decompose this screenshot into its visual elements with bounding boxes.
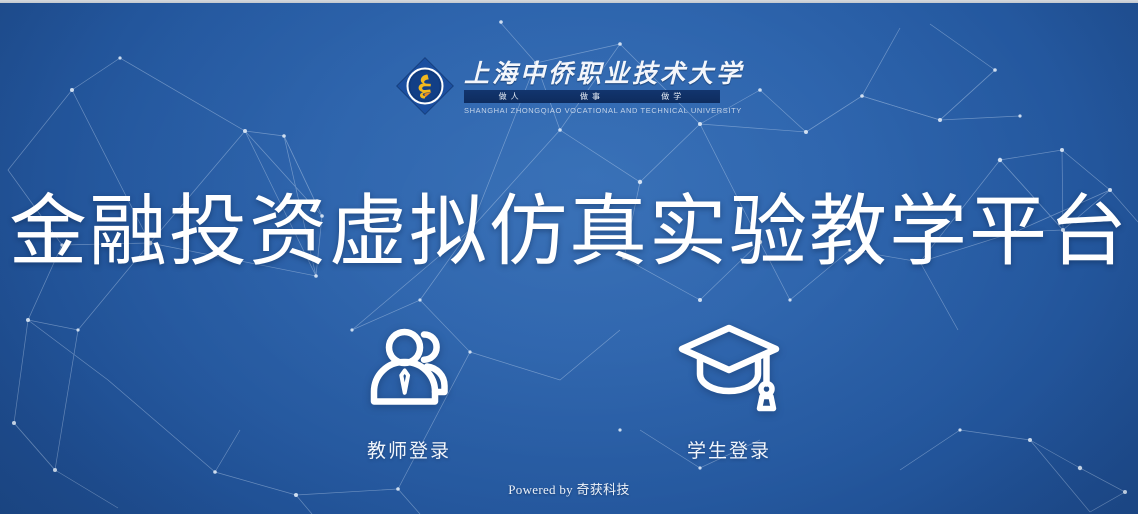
top-edge-strip	[0, 0, 1138, 3]
motto-word-1: 做人	[499, 91, 523, 102]
users-group-icon	[357, 318, 461, 418]
graduation-cap-icon	[676, 318, 782, 418]
page-title: 金融投资虚拟仿真实验教学平台	[0, 190, 1138, 274]
university-motto: 做人 做事 做学	[464, 90, 720, 103]
university-name-cn: 上海中侨职业技术大学	[464, 59, 744, 88]
student-login-label: 学生登录	[687, 436, 771, 463]
login-options: 教师登录 学生登录	[0, 318, 1138, 463]
login-landing-page: 上海中侨职业技术大学 做人 做事 做学 SHANGHAI ZHONGQIAO V…	[0, 0, 1138, 514]
university-name-en: SHANGHAI ZHONGQIAO VOCATIONAL AND TECHNI…	[464, 106, 744, 115]
student-login-option[interactable]: 学生登录	[654, 318, 804, 463]
footer-powered-by: Powered by 奇获科技	[0, 479, 1138, 498]
university-logo: 上海中侨职业技术大学 做人 做事 做学 SHANGHAI ZHONGQIAO V…	[394, 55, 744, 117]
motto-word-3: 做学	[661, 91, 685, 102]
university-emblem-icon	[394, 55, 456, 117]
teacher-login-label: 教师登录	[367, 436, 451, 463]
teacher-login-option[interactable]: 教师登录	[334, 318, 484, 463]
motto-word-2: 做事	[580, 91, 604, 102]
